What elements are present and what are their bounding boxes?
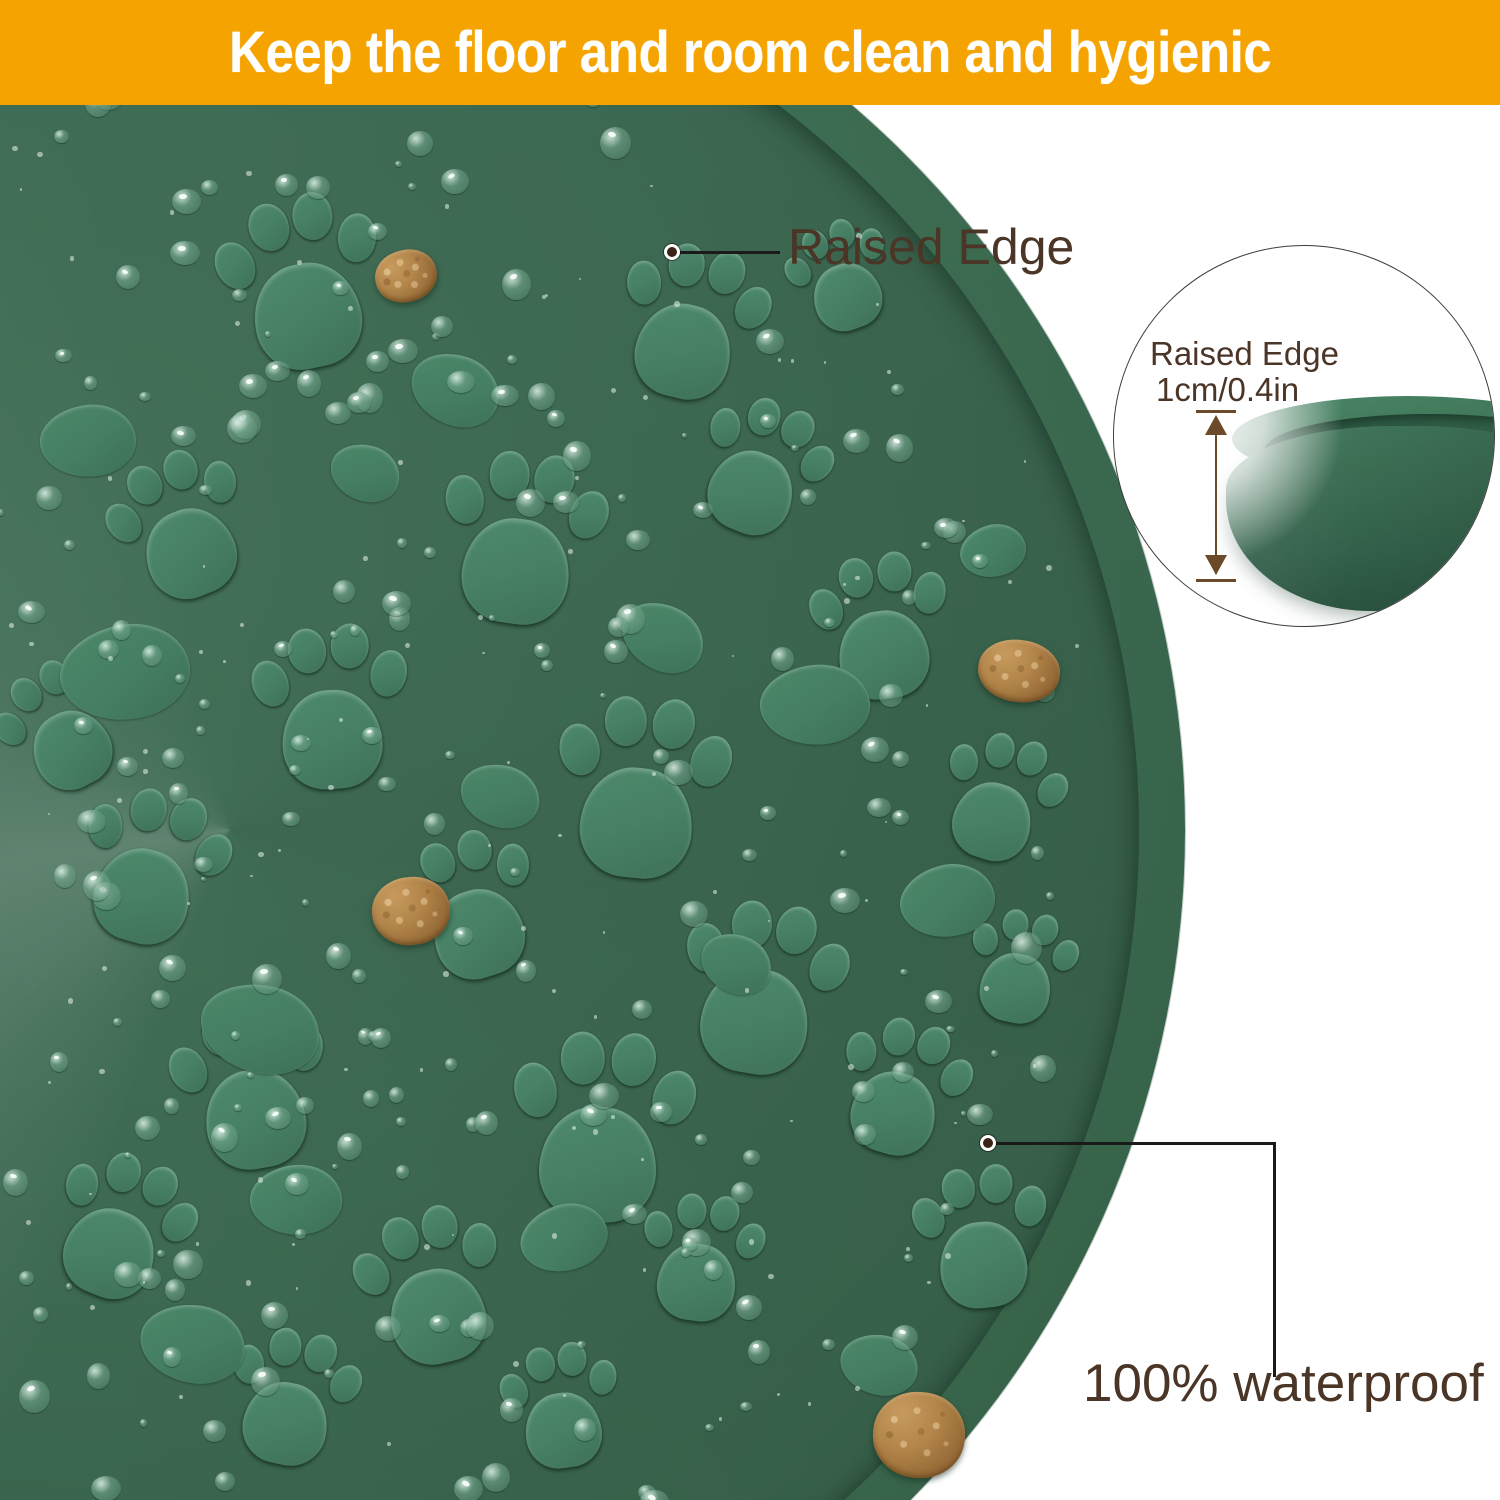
banner-headline: Keep the floor and room clean and hygien… [229, 19, 1271, 86]
water-droplet [454, 1476, 483, 1500]
paw-toe-pad [642, 1209, 675, 1249]
paw-toe-pad [607, 1030, 660, 1089]
water-droplet [19, 1271, 34, 1285]
water-droplet [445, 751, 454, 759]
paw-toe-pad [979, 1164, 1012, 1203]
surface-speck [170, 210, 174, 214]
water-droplet [854, 1124, 876, 1145]
water-droplet [500, 1398, 524, 1422]
water-droplet [388, 339, 419, 363]
surface-speck [650, 185, 652, 187]
surface-speck [768, 920, 770, 922]
surface-speck [768, 1274, 773, 1279]
water-droplet [553, 491, 579, 513]
paw-toe-pad [950, 743, 979, 780]
water-droplet [441, 169, 468, 194]
water-droplet [516, 489, 544, 517]
water-droplet [282, 812, 300, 827]
water-droplet [54, 130, 69, 144]
surface-speck [70, 256, 74, 260]
callout-dot-icon [980, 1135, 996, 1151]
water-droplet [424, 813, 446, 834]
water-droplet [306, 176, 331, 199]
water-droplet [704, 1260, 723, 1280]
water-droplet [18, 601, 45, 623]
paw-sole [935, 1217, 1031, 1311]
paw-toe-pad [1011, 1183, 1049, 1228]
water-droplet [510, 868, 520, 876]
paw-toe-pad [683, 730, 740, 793]
water-droplet [232, 289, 247, 301]
droplet-highlight [281, 177, 287, 181]
surface-speck [887, 370, 891, 374]
water-droplet [632, 1000, 652, 1020]
water-droplet [972, 554, 988, 568]
surface-speck [611, 388, 616, 393]
tray-edge-shading [1226, 426, 1495, 611]
paw-toe-pad [267, 1326, 302, 1367]
paw-toe-pad [707, 406, 741, 448]
paw-toe-pad [241, 198, 294, 256]
water-droplet [165, 1279, 185, 1301]
surface-speck [926, 704, 929, 707]
water-droplet [760, 806, 777, 819]
paw-toe-pad [522, 1345, 558, 1385]
paw-toe-pad [375, 1212, 423, 1264]
water-droplet [175, 674, 185, 684]
water-droplet [743, 1150, 759, 1165]
water-droplet [879, 684, 902, 708]
surface-speck [258, 1177, 263, 1182]
surface-speck [240, 623, 244, 627]
water-droplet [275, 174, 298, 196]
water-droplet [382, 591, 411, 616]
water-droplet [239, 374, 267, 398]
droplet-highlight [538, 646, 542, 649]
surface-speck [48, 1081, 51, 1084]
water-droplet [113, 1018, 122, 1026]
paw-toe-pad [906, 1193, 950, 1242]
water-droplet [227, 414, 257, 444]
water-droplet [234, 1104, 241, 1110]
surface-speck [1046, 565, 1052, 571]
water-droplet [211, 1123, 238, 1152]
water-droplet [352, 969, 366, 984]
water-droplet [203, 1420, 226, 1442]
water-droplet [771, 647, 794, 671]
dimension-cap-top [1196, 410, 1236, 413]
water-droplet [445, 1058, 457, 1071]
water-droplet [330, 631, 338, 639]
surface-speck [984, 986, 989, 991]
paw-toe-pad [982, 729, 1018, 769]
surface-speck [246, 1280, 251, 1285]
water-droplet [528, 383, 555, 410]
water-droplet [600, 693, 606, 698]
surface-speck [778, 358, 781, 361]
water-droplet [824, 618, 834, 627]
water-droplet [54, 864, 76, 888]
surface-speck [906, 1247, 910, 1251]
water-droplet [64, 540, 75, 551]
surface-speck [9, 623, 14, 628]
callout-leader-line [996, 1142, 1276, 1145]
water-droplet [36, 486, 62, 510]
water-droplet [482, 1463, 510, 1491]
water-droplet [534, 643, 550, 658]
water-droplet [756, 329, 784, 354]
paw-toe-pad [876, 551, 911, 592]
surface-speck [482, 652, 485, 655]
water-droplet [114, 1262, 142, 1288]
callout-leader-line [1273, 1142, 1276, 1377]
water-droplet [892, 751, 909, 767]
raised-edge-detail-inset: Raised Edge 1cm/0.4in [1113, 245, 1495, 627]
surface-speck [278, 849, 281, 852]
water-droplet [967, 1104, 993, 1125]
water-droplet [407, 131, 433, 155]
inset-measurement: 1cm/0.4in [1156, 370, 1299, 410]
paw-toe-pad [770, 901, 821, 958]
surface-speck [424, 1244, 430, 1250]
water-droplet [1046, 892, 1054, 900]
water-droplet [396, 1117, 406, 1126]
paw-toe-pad [0, 706, 33, 752]
surface-speck [674, 301, 679, 306]
water-droplet [589, 1083, 619, 1109]
paw-sole [244, 253, 370, 377]
water-droplet [891, 384, 903, 395]
surface-speck [108, 656, 113, 661]
water-droplet [169, 783, 188, 804]
water-droplet [574, 1418, 595, 1440]
surface-speck [808, 1402, 811, 1405]
water-droplet [946, 1026, 955, 1033]
callout-dot-icon [664, 244, 680, 260]
water-droplet [194, 857, 213, 872]
water-droplet [375, 1316, 401, 1341]
paw-toe-pad [442, 472, 487, 526]
water-droplet [1031, 846, 1044, 860]
water-droplet [265, 361, 289, 381]
water-droplet [140, 1419, 147, 1426]
water-droplet [760, 414, 776, 428]
paw-toe-pad [461, 1223, 497, 1268]
surface-speck [452, 1234, 454, 1236]
paw-sole [235, 1374, 334, 1472]
water-droplet [289, 765, 301, 775]
droplet-highlight [177, 430, 184, 435]
water-droplet [664, 760, 694, 785]
callout-dot-core [983, 1138, 993, 1148]
surface-speck [848, 1064, 854, 1070]
water-droplet [681, 1248, 690, 1257]
water-droplet [33, 1307, 49, 1322]
water-droplet [363, 1090, 379, 1107]
water-droplet [742, 849, 757, 861]
droplet-highlight [976, 557, 980, 560]
paw-toe-pad [1012, 736, 1053, 780]
water-droplet [843, 429, 870, 453]
header-banner: Keep the floor and room clean and hygien… [0, 0, 1500, 105]
surface-speck [307, 738, 309, 740]
paw-print-spill [540, 681, 739, 894]
water-droplet [135, 1116, 160, 1140]
water-droplet [163, 1347, 181, 1366]
inset-title: Raised Edge [1150, 334, 1339, 374]
water-droplet [904, 1254, 913, 1261]
water-droplet [142, 645, 162, 666]
water-droplet [362, 727, 382, 744]
water-droplet [961, 1111, 966, 1116]
water-droplet [431, 316, 453, 337]
surface-speck [405, 643, 410, 648]
surface-speck [398, 460, 403, 465]
water-droplet [247, 1072, 254, 1078]
paw-toe-pad [206, 235, 263, 296]
water-droplet [295, 1229, 306, 1239]
surface-speck [513, 1361, 519, 1367]
paw-toe-pad [64, 1162, 100, 1207]
water-droplet [333, 580, 355, 603]
water-droplet [507, 355, 517, 363]
callout-label-waterproof: 100% waterproof [1083, 1353, 1484, 1414]
water-droplet [285, 1173, 310, 1195]
water-droplet [791, 445, 799, 451]
surface-speck [1033, 1064, 1036, 1067]
water-droplet [297, 370, 322, 396]
water-droplet [125, 1152, 131, 1158]
surface-speck [223, 660, 226, 663]
surface-speck [363, 556, 368, 561]
surface-speck [552, 1233, 557, 1238]
surface-speck [945, 1253, 951, 1259]
water-droplet [608, 617, 629, 637]
surface-speck [611, 1115, 615, 1119]
water-droplet [347, 392, 371, 413]
paw-toe-pad [702, 247, 750, 299]
dimension-arrowhead-top [1205, 415, 1227, 435]
water-droplet [934, 518, 958, 537]
water-droplet [547, 410, 565, 427]
water-droplet [748, 1340, 770, 1364]
water-droplet [680, 901, 708, 927]
droplet-highlight [372, 355, 378, 359]
water-droplet [378, 777, 395, 792]
water-droplet [650, 1102, 672, 1122]
water-droplet [1011, 932, 1042, 964]
paw-toe-pad [345, 1247, 397, 1302]
paw-toe-pad [202, 459, 238, 504]
callout-label-raised-edge: Raised Edge [788, 218, 1074, 276]
water-droplet [77, 810, 106, 833]
surface-speck [246, 171, 252, 177]
water-droplet [117, 757, 137, 776]
surface-speck [328, 785, 333, 790]
water-droplet [991, 1050, 998, 1057]
paw-toe-pad [102, 1149, 145, 1197]
dimension-cap-bottom [1196, 579, 1236, 582]
water-droplet [736, 1295, 763, 1320]
surface-speck [99, 1069, 104, 1074]
paw-toe-pad [418, 1203, 459, 1250]
water-droplet [157, 1250, 164, 1256]
paw-toe-pad [911, 570, 948, 616]
surface-speck [713, 890, 717, 894]
surface-speck [108, 476, 112, 480]
paw-toe-pad [246, 655, 296, 711]
water-droplet [302, 899, 310, 906]
water-droplet [170, 241, 200, 265]
dimension-arrow-icon [1196, 410, 1236, 582]
surface-speck [962, 520, 964, 522]
callout-leader-line [680, 251, 780, 254]
paw-toe-pad [162, 1040, 215, 1098]
paw-toe-pad [645, 1065, 703, 1131]
water-droplet [389, 1087, 404, 1103]
paw-toe-pad [879, 1015, 917, 1057]
inset-photo [1114, 246, 1495, 627]
water-droplet [201, 180, 218, 195]
water-droplet [447, 371, 474, 393]
paw-toe-pad [366, 646, 411, 699]
paw-toe-pad [803, 584, 849, 635]
water-droplet [162, 748, 184, 768]
water-droplet [489, 615, 495, 620]
surface-speck [12, 146, 17, 151]
water-droplet [366, 351, 388, 372]
water-droplet [626, 530, 649, 550]
water-droplet [87, 1363, 110, 1388]
surface-speck [250, 875, 252, 877]
paw-toe-pad [560, 1032, 606, 1086]
surface-speck [296, 1287, 298, 1289]
water-droplet [19, 1380, 50, 1413]
surface-speck [521, 926, 526, 931]
water-droplet [83, 871, 111, 901]
water-droplet [397, 538, 407, 547]
paw-toe-pad [555, 720, 603, 778]
surface-speck [824, 361, 826, 363]
droplet-highlight [54, 1056, 59, 1059]
water-droplet [653, 749, 669, 765]
paw-toe-pad [605, 696, 647, 746]
surface-speck [344, 1068, 348, 1072]
paw-toe-pad [509, 1059, 561, 1121]
water-droplet [852, 1081, 875, 1102]
water-droplet [491, 385, 518, 407]
water-droplet [925, 990, 952, 1013]
water-droplet [332, 281, 348, 295]
water-droplet [453, 927, 473, 945]
water-droplet [600, 127, 631, 159]
surface-speck [443, 971, 448, 976]
paw-toe-pad [127, 785, 170, 833]
water-droplet [740, 1402, 752, 1412]
water-droplet [55, 349, 71, 363]
paw-print-spill [243, 614, 417, 800]
water-droplet [424, 547, 436, 558]
water-droplet [622, 1204, 647, 1224]
droplet-highlight [174, 787, 179, 790]
surface-speck [143, 769, 147, 773]
surface-speck [876, 303, 879, 306]
water-droplet [199, 699, 210, 709]
water-droplet [74, 717, 93, 733]
paw-toe-pad [676, 1192, 707, 1228]
dimension-line [1215, 418, 1217, 574]
paw-sole [943, 772, 1041, 869]
water-droplet [563, 441, 591, 470]
surface-speck [488, 844, 491, 847]
surface-speck [445, 204, 449, 208]
product-infographic: Keep the floor and room clean and hygien… [0, 0, 1500, 1500]
water-droplet [196, 726, 204, 734]
paw-toe-pad [587, 1358, 619, 1397]
water-droplet [604, 640, 628, 663]
water-droplet [139, 392, 151, 401]
surface-speck [258, 852, 264, 858]
surface-speck [855, 1386, 860, 1391]
water-droplet [173, 1250, 202, 1280]
paw-toe-pad [121, 460, 169, 511]
paw-print-spill [902, 1154, 1058, 1320]
paw-toe-pad [454, 827, 495, 873]
callout-dot-core [667, 247, 677, 257]
paw-toe-pad [158, 446, 201, 494]
droplet-highlight [656, 1105, 662, 1109]
surface-speck [749, 1239, 754, 1244]
paw-toe-pad [626, 260, 662, 305]
droplet-highlight [178, 246, 186, 251]
surface-speck [20, 188, 23, 191]
water-droplet [1030, 1055, 1056, 1082]
paw-sole [197, 1061, 313, 1176]
water-droplet [502, 269, 531, 300]
paw-toe-pad [299, 1330, 341, 1375]
water-droplet [164, 1098, 179, 1114]
water-droplet [91, 1476, 121, 1500]
surface-speck [568, 549, 573, 554]
surface-speck [844, 598, 850, 604]
water-droplet [396, 1165, 410, 1179]
droplet-highlight [79, 720, 84, 724]
paw-toe-pad [497, 843, 530, 886]
product-photo: Raised Edge 100% waterproof Raised Edge … [0, 105, 1500, 1500]
water-droplet [902, 590, 916, 605]
surface-speck [594, 1015, 598, 1019]
surface-speck [235, 321, 240, 326]
paw-sole [455, 512, 575, 630]
dimension-arrowhead-bottom [1205, 555, 1227, 575]
surface-speck [37, 152, 43, 158]
surface-speck [641, 1158, 644, 1161]
surface-speck [558, 834, 562, 838]
water-droplet [296, 1097, 314, 1114]
paw-toe-pad [648, 695, 699, 753]
surface-speck [187, 902, 190, 905]
surface-speck [29, 642, 34, 647]
water-droplet [695, 1134, 707, 1144]
